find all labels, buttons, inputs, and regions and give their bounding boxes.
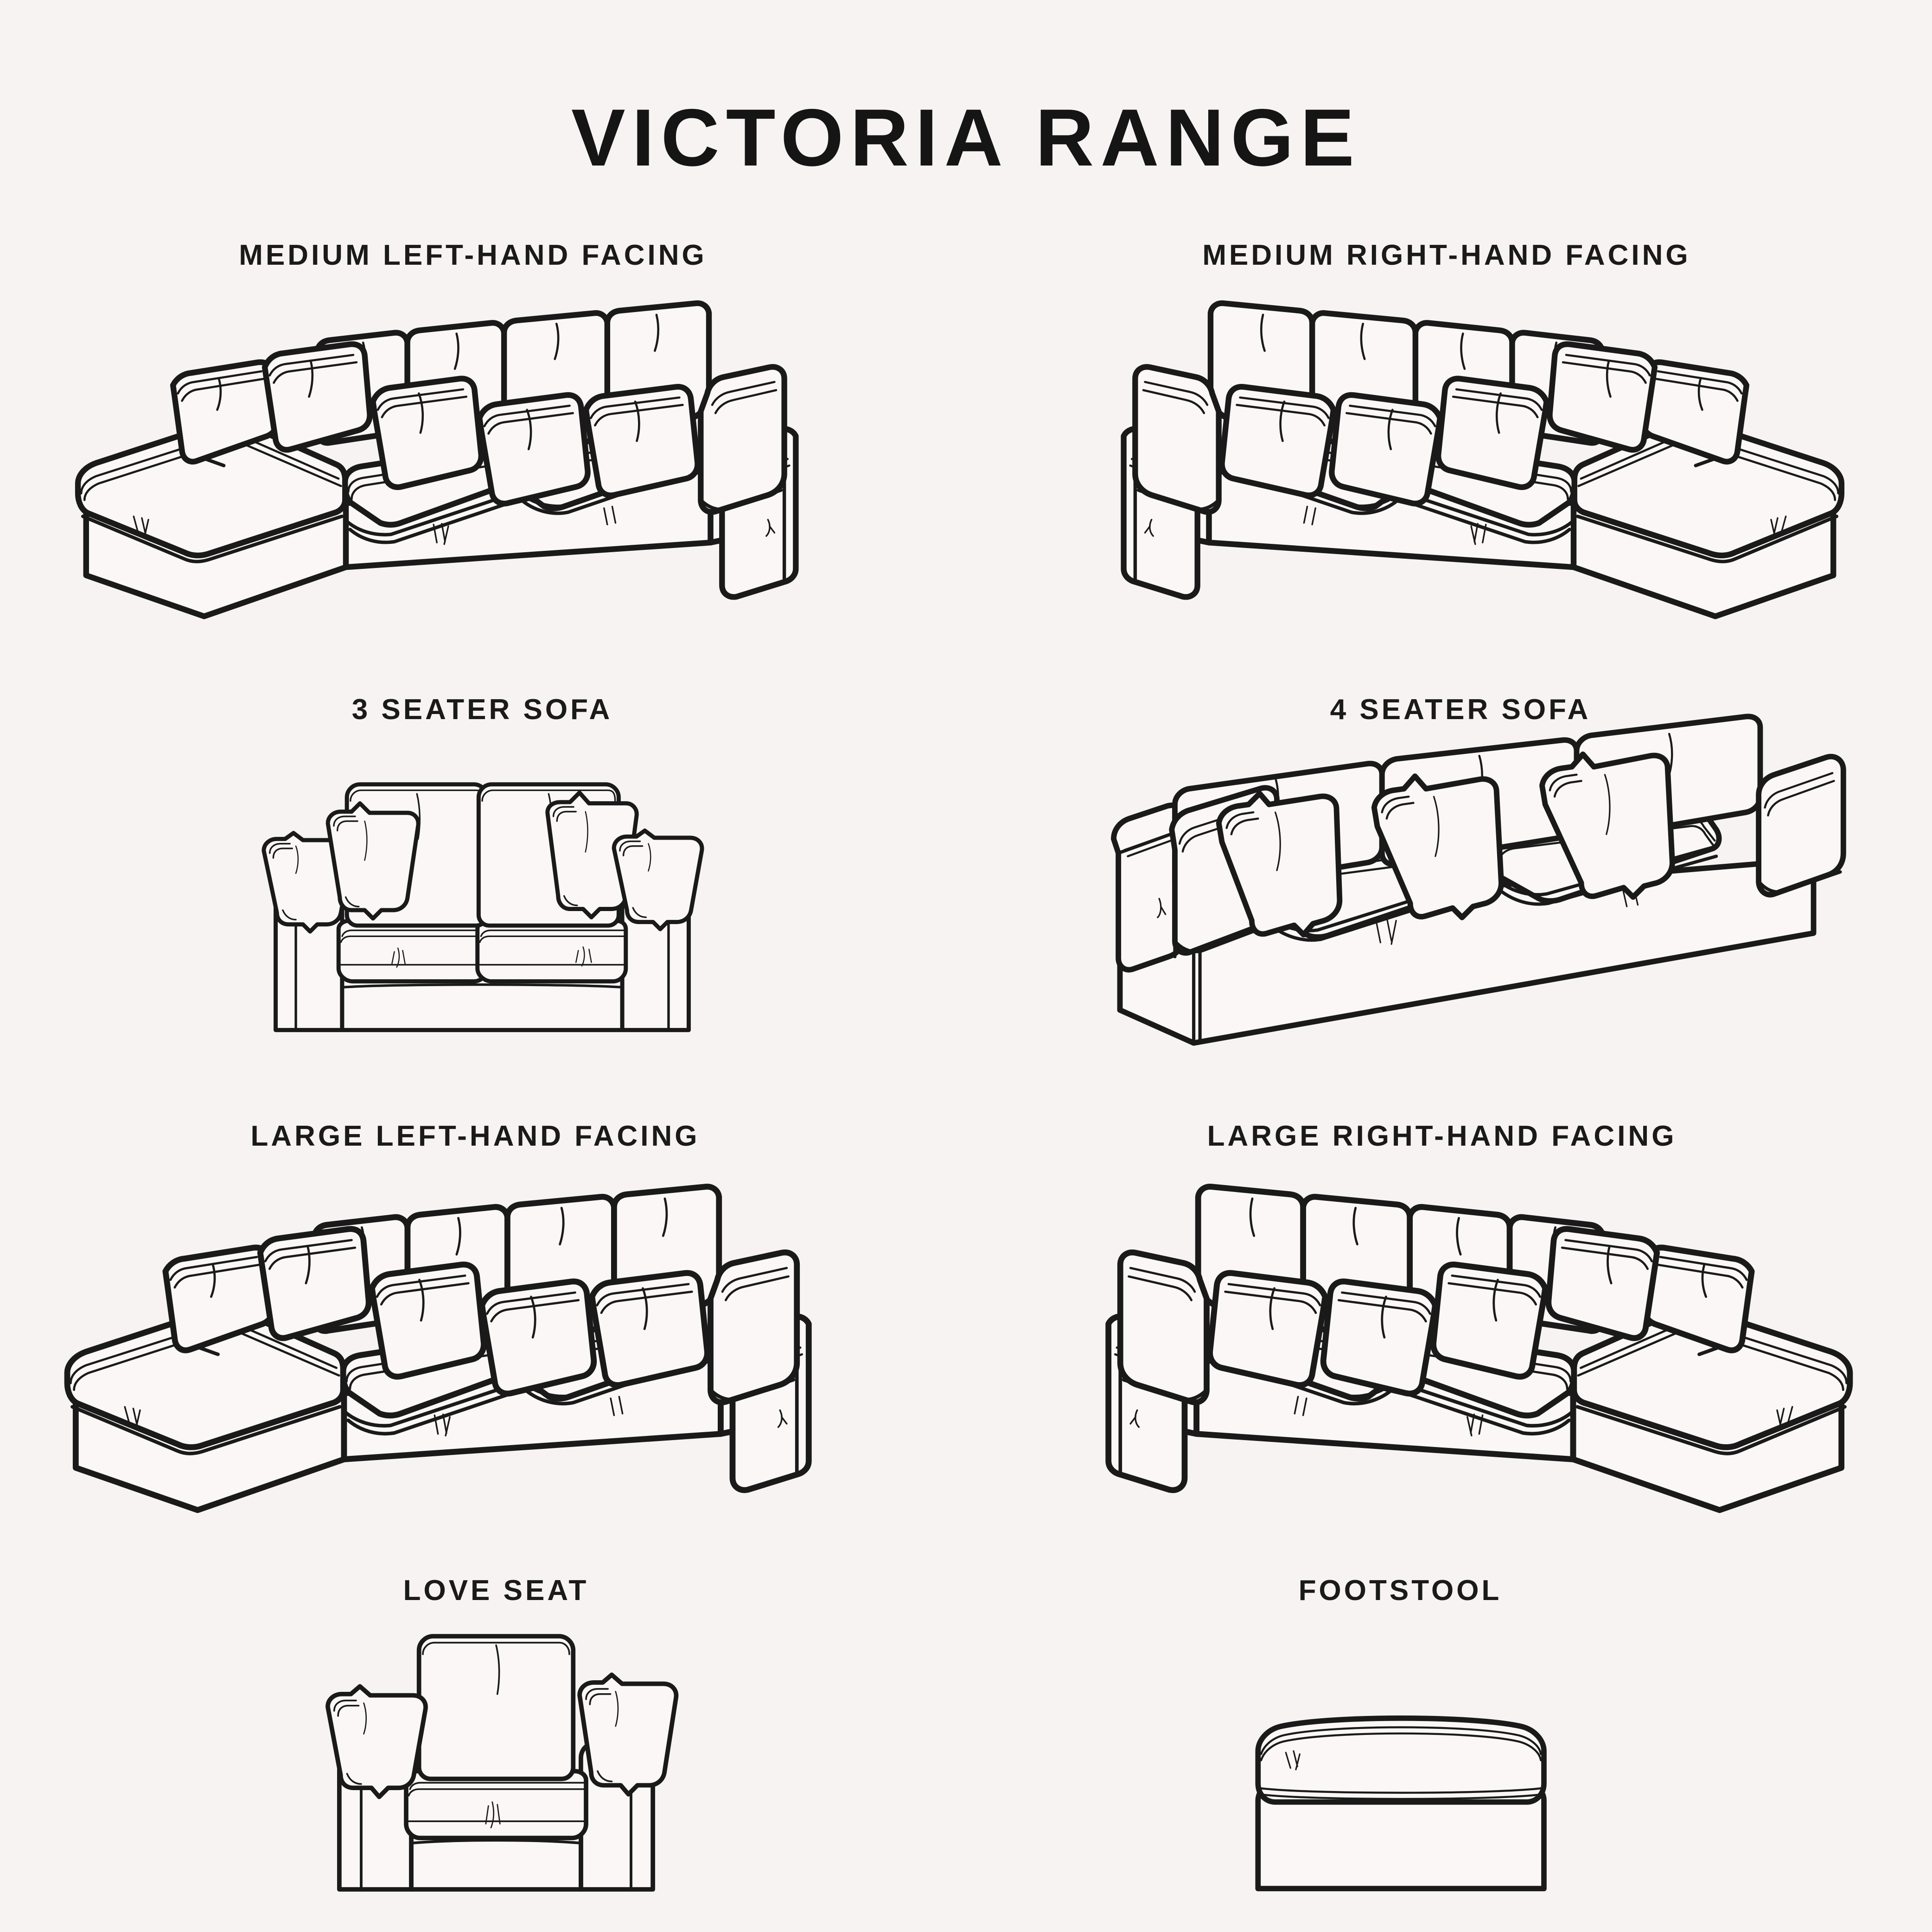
- product-label-medium-left-hand-facing: MEDIUM LEFT-HAND FACING: [56, 241, 890, 270]
- product-illustration-4-seater-sofa: [1043, 751, 1878, 1057]
- product-range-poster: VICTORIA RANGE MEDIUM LEFT-HAND FACING: [0, 0, 1932, 1932]
- product-illustration-medium-right-hand-facing: [1020, 297, 1873, 649]
- product-label-medium-right-hand-facing: MEDIUM RIGHT-HAND FACING: [1020, 241, 1873, 270]
- product-illustration-medium-left-hand-facing: [56, 297, 890, 649]
- product-label-large-left-hand-facing: LARGE LEFT-HAND FACING: [42, 1122, 909, 1151]
- product-card-3-seater-sofa[interactable]: 3 SEATER SOFA: [153, 695, 811, 1048]
- product-illustration-3-seater-sofa: [153, 751, 811, 1048]
- page-title: VICTORIA RANGE: [0, 97, 1932, 179]
- product-card-4-seater-sofa[interactable]: 4 SEATER SOFA: [1043, 695, 1878, 1057]
- product-label-3-seater-sofa: 3 SEATER SOFA: [153, 695, 811, 724]
- product-illustration-large-right-hand-facing: [1001, 1180, 1882, 1544]
- product-label-large-right-hand-facing: LARGE RIGHT-HAND FACING: [1001, 1122, 1882, 1151]
- product-card-medium-right-hand-facing[interactable]: MEDIUM RIGHT-HAND FACING: [1020, 241, 1873, 649]
- product-card-large-left-hand-facing[interactable]: LARGE LEFT-HAND FACING: [42, 1122, 909, 1544]
- product-card-footstool[interactable]: FOOTSTOOL: [1173, 1576, 1627, 1901]
- product-illustration-footstool: [1173, 1669, 1627, 1901]
- product-illustration-large-left-hand-facing: [42, 1180, 909, 1544]
- product-card-medium-left-hand-facing[interactable]: MEDIUM LEFT-HAND FACING: [56, 241, 890, 649]
- product-illustration-love-seat: [260, 1631, 733, 1901]
- product-card-large-right-hand-facing[interactable]: LARGE RIGHT-HAND FACING: [1001, 1122, 1882, 1544]
- product-label-love-seat: LOVE SEAT: [260, 1576, 733, 1605]
- product-card-love-seat[interactable]: LOVE SEAT: [260, 1576, 733, 1901]
- product-label-footstool: FOOTSTOOL: [1173, 1576, 1627, 1605]
